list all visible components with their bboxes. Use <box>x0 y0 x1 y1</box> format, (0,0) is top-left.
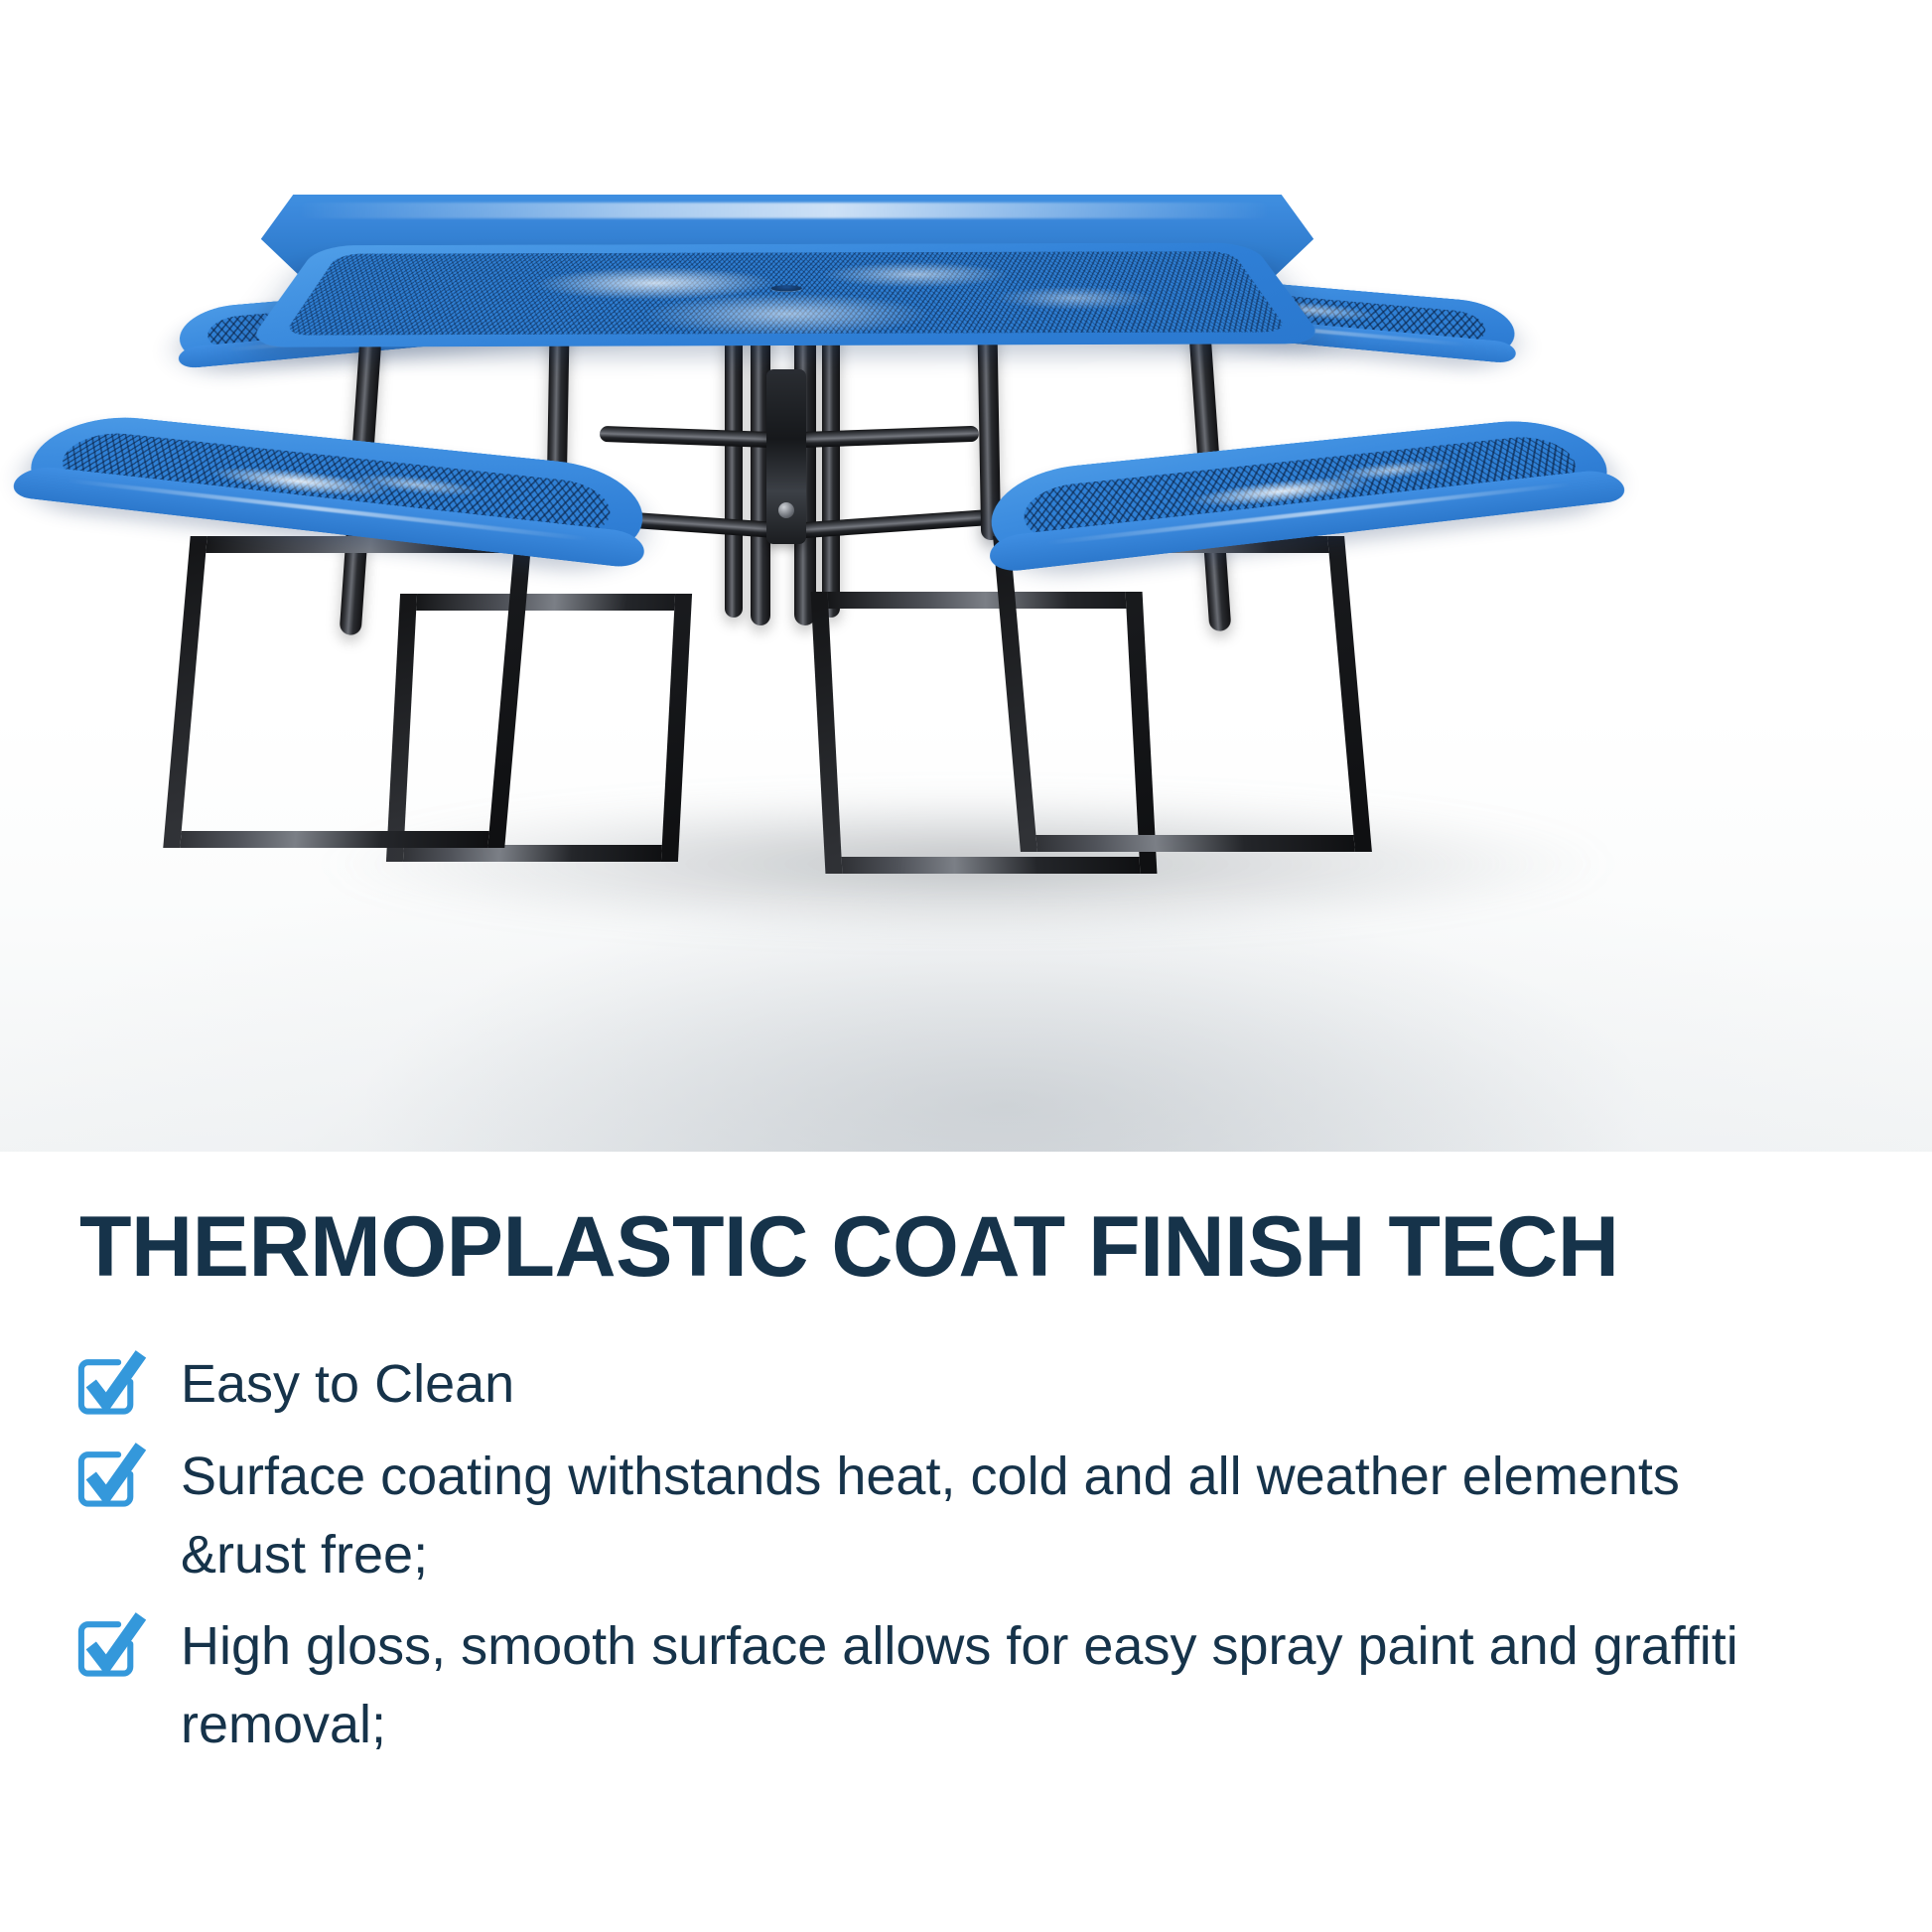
feature-label: Surface coating withstands heat, cold an… <box>181 1438 1809 1594</box>
product-scene <box>0 0 1932 1152</box>
checkbox-checked-icon <box>71 1347 147 1423</box>
frame-leg-loop <box>163 536 531 848</box>
checkbox-checked-icon <box>71 1609 147 1685</box>
support-arm <box>786 509 996 540</box>
page-title: THERMOPLASTIC COAT FINISH TECH <box>79 1201 1932 1294</box>
feature-list: Easy to Clean Surface coating withstands… <box>0 1345 1932 1764</box>
feature-label: Easy to Clean <box>181 1345 514 1424</box>
checkbox-checked-icon <box>71 1440 147 1515</box>
table-top-surface <box>245 243 1327 347</box>
frame-leg-loop <box>993 536 1372 852</box>
product-photo <box>0 0 1932 1152</box>
list-item: Easy to Clean <box>0 1345 1932 1424</box>
bracket-bolt <box>778 502 794 518</box>
umbrella-hole <box>770 285 802 291</box>
feature-text-block: THERMOPLASTIC COAT FINISH TECH Easy to C… <box>0 1152 1932 1778</box>
list-item: Surface coating withstands heat, cold an… <box>0 1438 1932 1594</box>
table-top-gloss-highlight <box>283 251 1289 335</box>
feature-label: High gloss, smooth surface allows for ea… <box>181 1607 1809 1764</box>
list-item: High gloss, smooth surface allows for ea… <box>0 1607 1932 1764</box>
table-top <box>246 95 1328 363</box>
